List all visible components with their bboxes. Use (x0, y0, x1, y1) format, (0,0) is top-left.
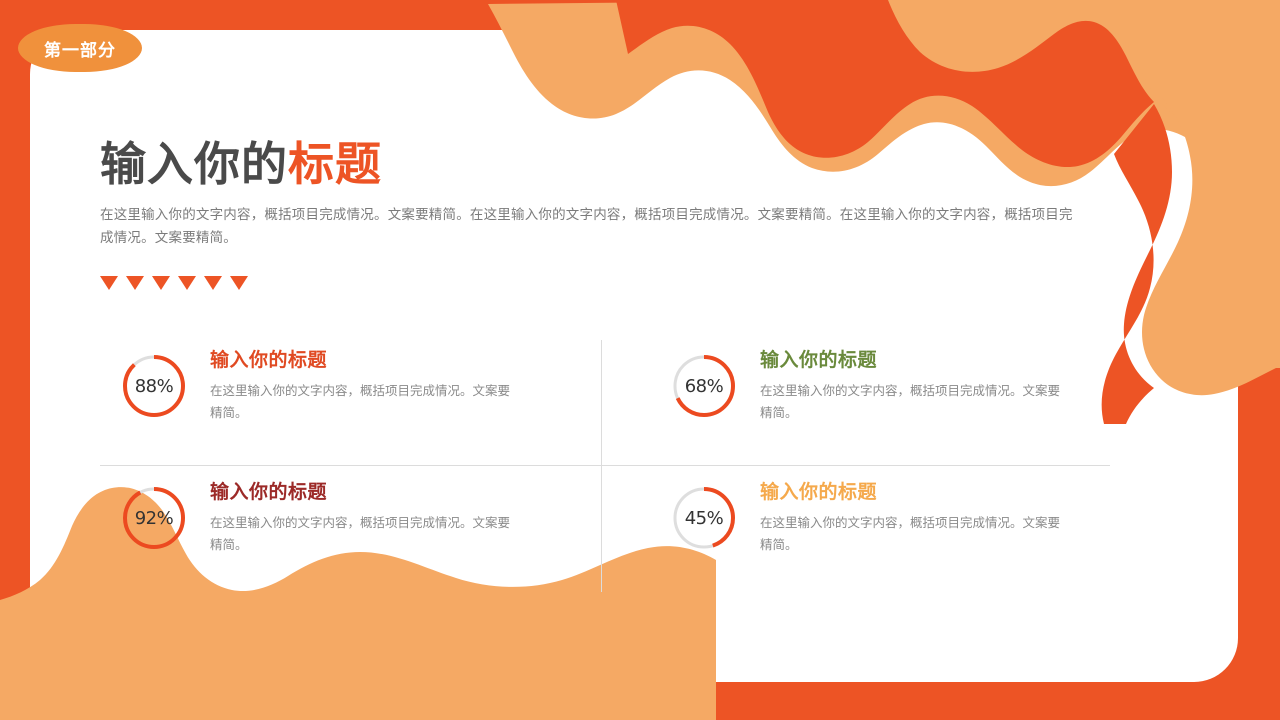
progress-ring-value: 92% (120, 484, 188, 552)
stat-description: 在这里输入你的文字内容，概括项目完成情况。文案要精简。 (210, 381, 510, 424)
grid-vertical-divider (601, 340, 602, 592)
stat-item: 68% 输入你的标题 在这里输入你的文字内容，概括项目完成情况。文案要精简。 (670, 343, 1140, 424)
page-title-plain: 输入你的 (100, 139, 288, 190)
stat-description: 在这里输入你的文字内容，概括项目完成情况。文案要精简。 (760, 513, 1060, 556)
section-badge-label: 第一部分 (44, 36, 116, 61)
stat-item: 92% 输入你的标题 在这里输入你的文字内容，概括项目完成情况。文案要精简。 (120, 475, 590, 556)
stat-text-block: 输入你的标题 在这里输入你的文字内容，概括项目完成情况。文案要精简。 (210, 475, 510, 556)
triangle-icon (178, 276, 196, 290)
triangle-icon (230, 276, 248, 290)
stat-title: 输入你的标题 (210, 477, 510, 504)
main-content: 输入你的标题 在这里输入你的文字内容，概括项目完成情况。文案要精简。在这里输入你… (100, 140, 1110, 290)
stat-item: 45% 输入你的标题 在这里输入你的文字内容，概括项目完成情况。文案要精简。 (670, 475, 1140, 556)
triangle-icon (100, 276, 118, 290)
progress-ring-value: 68% (670, 352, 738, 420)
page-title: 输入你的标题 (100, 140, 1110, 191)
stat-title: 输入你的标题 (210, 345, 510, 372)
progress-ring: 45% (670, 484, 738, 552)
stats-grid: 88% 输入你的标题 在这里输入你的文字内容，概括项目完成情况。文案要精简。 6… (100, 335, 1110, 600)
triangle-icon (126, 276, 144, 290)
triangle-divider-decoration (100, 276, 1110, 290)
intro-paragraph: 在这里输入你的文字内容，概括项目完成情况。文案要精简。在这里输入你的文字内容，概… (100, 203, 1085, 250)
stat-title: 输入你的标题 (760, 477, 1060, 504)
slide-root: 第一部分 输入你的标题 在这里输入你的文字内容，概括项目完成情况。文案要精简。在… (0, 0, 1280, 720)
stat-text-block: 输入你的标题 在这里输入你的文字内容，概括项目完成情况。文案要精简。 (760, 475, 1060, 556)
stat-text-block: 输入你的标题 在这里输入你的文字内容，概括项目完成情况。文案要精简。 (760, 343, 1060, 424)
progress-ring: 88% (120, 352, 188, 420)
page-title-accent: 标题 (288, 139, 382, 190)
stat-description: 在这里输入你的文字内容，概括项目完成情况。文案要精简。 (210, 513, 510, 556)
stat-title: 输入你的标题 (760, 345, 1060, 372)
stat-text-block: 输入你的标题 在这里输入你的文字内容，概括项目完成情况。文案要精简。 (210, 343, 510, 424)
section-badge[interactable]: 第一部分 (18, 24, 142, 72)
progress-ring: 92% (120, 484, 188, 552)
triangle-icon (152, 276, 170, 290)
stat-description: 在这里输入你的文字内容，概括项目完成情况。文案要精简。 (760, 381, 1060, 424)
triangle-icon (204, 276, 222, 290)
progress-ring-value: 88% (120, 352, 188, 420)
progress-ring-value: 45% (670, 484, 738, 552)
progress-ring: 68% (670, 352, 738, 420)
stat-item: 88% 输入你的标题 在这里输入你的文字内容，概括项目完成情况。文案要精简。 (120, 343, 590, 424)
grid-horizontal-divider (100, 465, 1110, 466)
